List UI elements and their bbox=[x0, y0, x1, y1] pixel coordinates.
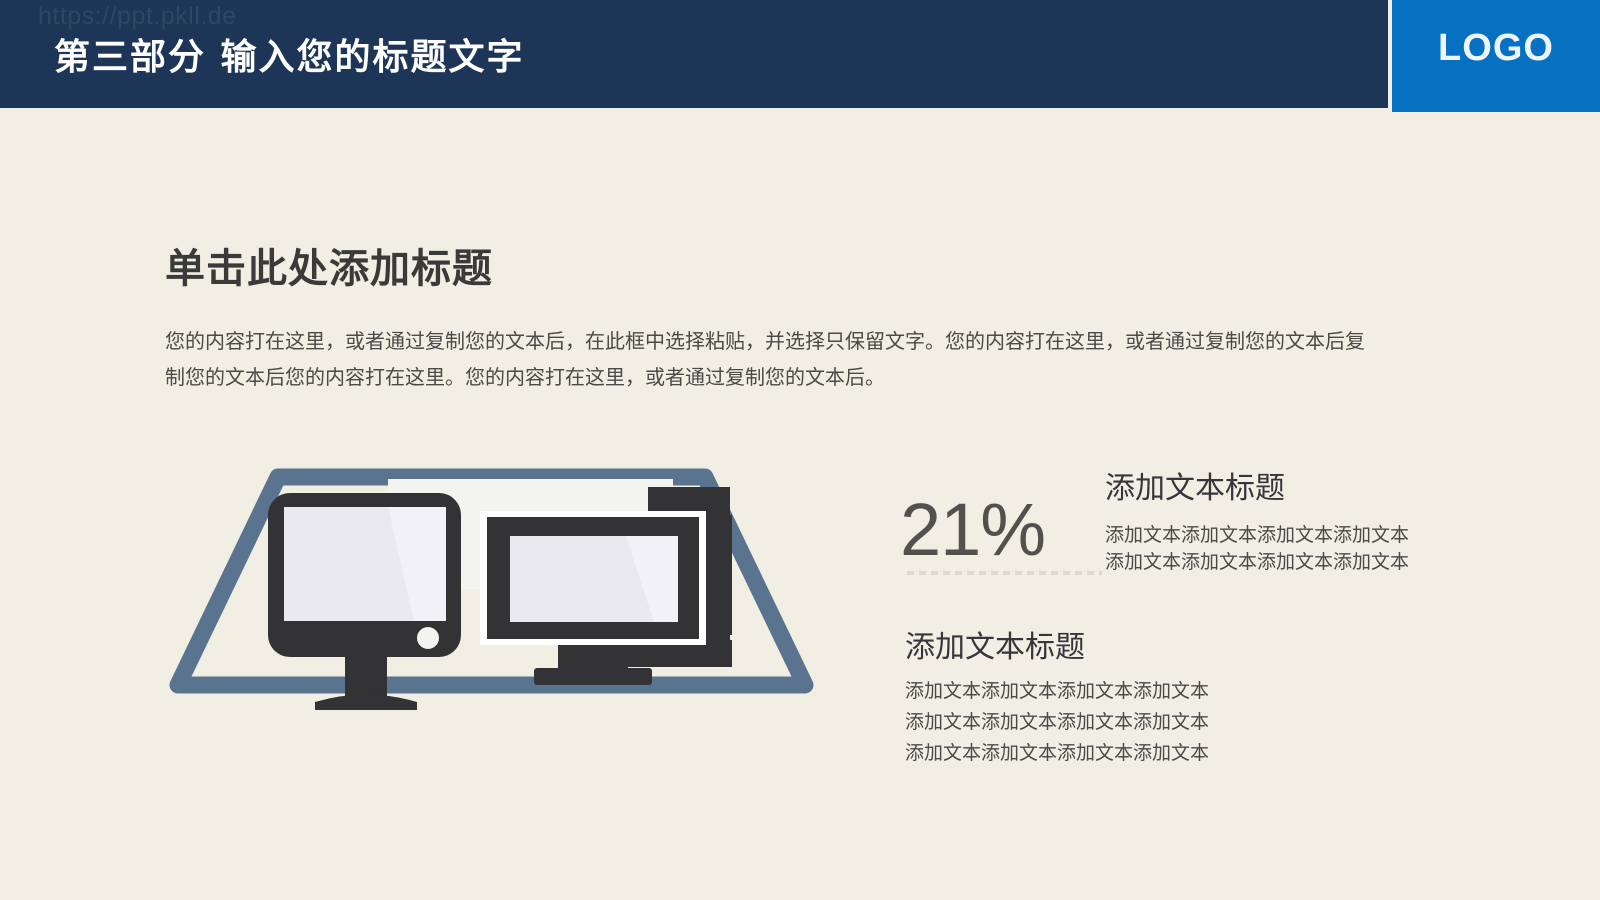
stat-heading: 添加文本标题 bbox=[1105, 463, 1285, 507]
stat-description-line: 添加文本添加文本添加文本添加文本 bbox=[1105, 522, 1409, 549]
logo-panel[interactable]: LOGO bbox=[1392, 0, 1600, 112]
stat-dotted-divider bbox=[907, 571, 1102, 575]
stat-percentage: 21% bbox=[900, 493, 1045, 567]
watermark-text: https://ppt.pkll.de bbox=[38, 2, 237, 31]
body-paragraph: 您的内容打在这里，或者通过复制您的文本后，在此框中选择粘贴，并选择只保留文字。您… bbox=[165, 323, 1365, 395]
stat-block: 21% 添加文本标题 添加文本添加文本添加文本添加文本 添加文本添加文本添加文本… bbox=[900, 455, 1500, 585]
secondary-heading: 添加文本标题 bbox=[905, 622, 1465, 666]
secondary-description-line: 添加文本添加文本添加文本添加文本 bbox=[905, 707, 1465, 738]
header-bar: https://ppt.pkll.de 第三部分 输入您的标题文字 bbox=[0, 0, 1388, 108]
computers-illustration-svg bbox=[160, 455, 820, 710]
slide-canvas: https://ppt.pkll.de 第三部分 输入您的标题文字 LOGO 单… bbox=[0, 0, 1600, 900]
page-title: 单击此处添加标题 bbox=[165, 236, 493, 294]
secondary-description-line: 添加文本添加文本添加文本添加文本 bbox=[905, 676, 1465, 707]
stat-description-line: 添加文本添加文本添加文本添加文本 bbox=[1105, 549, 1409, 576]
power-indicator-icon bbox=[417, 627, 439, 649]
computers-illustration bbox=[160, 455, 820, 710]
stat-description: 添加文本添加文本添加文本添加文本 添加文本添加文本添加文本添加文本 bbox=[1105, 522, 1409, 576]
header-title: 第三部分 输入您的标题文字 bbox=[54, 28, 525, 80]
secondary-text-block: 添加文本标题 添加文本添加文本添加文本添加文本 添加文本添加文本添加文本添加文本… bbox=[905, 622, 1465, 769]
secondary-description: 添加文本添加文本添加文本添加文本 添加文本添加文本添加文本添加文本 添加文本添加… bbox=[905, 676, 1465, 769]
logo-label: LOGO bbox=[1392, 27, 1600, 70]
secondary-description-line: 添加文本添加文本添加文本添加文本 bbox=[905, 738, 1465, 769]
